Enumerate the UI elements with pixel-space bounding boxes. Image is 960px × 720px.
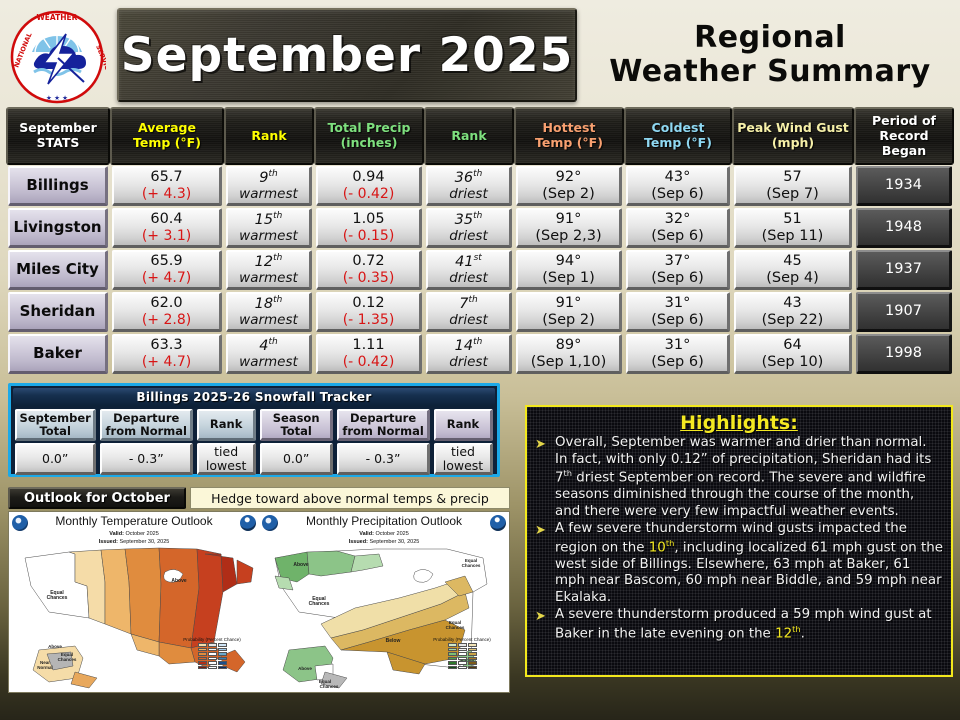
row-hottest-0: 92°(Sep 2) — [516, 166, 622, 206]
highlight-item: ➤A few severe thunderstorm wind gusts im… — [535, 521, 943, 606]
snowfall-header-5: Rank — [434, 409, 493, 441]
col-header-avg-temp-l2: Temp (°F) — [114, 136, 220, 151]
col-header-hottest: Hottest Temp (°F) — [514, 107, 624, 165]
temperature-outlook-title: Monthly Temperature Outlook — [9, 514, 259, 528]
snowfall-header-row: SeptemberTotalDeparturefrom NormalRankSe… — [13, 408, 495, 442]
row-record-began-3: 1907 — [856, 292, 952, 332]
row-record-began-0: 1934 — [856, 166, 952, 206]
row-gust-1: 51(Sep 11) — [734, 208, 852, 248]
temp-valid-value: October 2025 — [125, 531, 158, 537]
row-temp-rank-3: 18thwarmest — [226, 292, 312, 332]
row-precip-rank-3: 7thdriest — [426, 292, 512, 332]
snowfall-header-4: Departurefrom Normal — [337, 409, 430, 441]
temperature-outlook-legend: Probability (Percent Chance) — [169, 637, 255, 689]
svg-text:Chances: Chances — [47, 595, 68, 601]
col-header-temp-rank-l1: Rank — [228, 129, 310, 144]
table-row: Miles City65.9(+ 4.7)12thwarmest0.72(- 0… — [6, 249, 954, 291]
row-hottest-2: 94°(Sep 1) — [516, 250, 622, 290]
row-city-0: Billings — [8, 166, 108, 206]
row-temp-rank-0: 9thwarmest — [226, 166, 312, 206]
table-row: Billings65.7(+ 4.3)9thwarmest0.94(- 0.42… — [6, 165, 954, 207]
col-header-gust-l1: Peak Wind Gust — [736, 121, 850, 136]
col-header-hottest-l1: Hottest — [518, 121, 620, 136]
outlook-maps: Monthly Temperature Outlook Valid: Octob… — [8, 511, 510, 693]
temp-legend-title: Probability (Percent Chance) — [169, 637, 255, 642]
row-coldest-0: 43°(Sep 6) — [626, 166, 730, 206]
snowfall-value-1: - 0.3” — [100, 443, 193, 475]
row-record-began-4: 1998 — [856, 334, 952, 374]
col-header-coldest-l1: Coldest — [628, 121, 728, 136]
col-header-avg-temp-l1: Average — [114, 121, 220, 136]
highlight-item: ➤A severe thunderstorm produced a 59 mph… — [535, 607, 943, 643]
snowfall-value-3: 0.0” — [260, 443, 333, 475]
svg-text:Normal: Normal — [37, 665, 53, 670]
col-header-precip-rank-l1: Rank — [428, 129, 510, 144]
row-city-4: Baker — [8, 334, 108, 374]
svg-text:Above: Above — [171, 578, 187, 584]
table-row: Baker63.3(+ 4.7)4thwarmest1.11(- 0.42)14… — [6, 333, 954, 375]
highlight-text: Overall, September was warmer and drier … — [555, 435, 943, 520]
bullet-arrow-icon: ➤ — [535, 435, 549, 520]
row-coldest-2: 37°(Sep 6) — [626, 250, 730, 290]
row-avg-temp-2: 65.9(+ 4.7) — [112, 250, 222, 290]
snowfall-value-row: 0.0”- 0.3”tiedlowest0.0”- 0.3”tiedlowest — [13, 442, 495, 476]
row-gust-0: 57(Sep 7) — [734, 166, 852, 206]
snowfall-header-1: Departurefrom Normal — [100, 409, 193, 441]
svg-text:Chances: Chances — [309, 601, 330, 607]
precip-valid-value: October 2025 — [375, 531, 408, 537]
row-hottest-1: 91°(Sep 2,3) — [516, 208, 622, 248]
svg-text:Above: Above — [48, 644, 62, 649]
snowfall-value-5: tiedlowest — [434, 443, 493, 475]
table-row: Livingston60.4(+ 3.1)15thwarmest1.05(- 0… — [6, 207, 954, 249]
row-avg-temp-0: 65.7(+ 4.3) — [112, 166, 222, 206]
row-precip-2: 0.72(- 0.35) — [316, 250, 422, 290]
col-header-temp-rank: Rank — [224, 107, 314, 165]
month-title-banner: September 2025 — [117, 8, 577, 102]
snowfall-tracker-title: Billings 2025-26 Snowfall Tracker — [13, 388, 495, 406]
row-avg-temp-4: 63.3(+ 4.7) — [112, 334, 222, 374]
svg-text:Chances: Chances — [58, 657, 77, 662]
col-header-city: September STATS — [6, 107, 110, 165]
col-header-record-began: Period of Record Began — [854, 107, 954, 165]
stats-table-header-row: September STATS Average Temp (°F) Rank T… — [6, 107, 954, 165]
row-record-began-2: 1937 — [856, 250, 952, 290]
row-temp-rank-4: 4thwarmest — [226, 334, 312, 374]
summary-title-line2: Weather Summary — [609, 55, 930, 89]
highlight-item: ➤Overall, September was warmer and drier… — [535, 435, 943, 520]
row-gust-3: 43(Sep 22) — [734, 292, 852, 332]
outlook-hedge-note: Hedge toward above normal temps & precip — [190, 487, 510, 509]
precipitation-outlook-map: Monthly Precipitation Outlook Valid: Oct… — [259, 512, 509, 692]
col-header-city-l1: September — [10, 121, 106, 136]
highlight-text: A few severe thunderstorm wind gusts imp… — [555, 521, 943, 606]
col-header-record-began-l1: Period of — [858, 114, 950, 129]
page-header: WEATHER ★ ★ ★ NATIONAL SERVICE September… — [0, 0, 960, 106]
col-header-gust-l2: (mph) — [736, 136, 850, 151]
snowfall-tracker-panel: Billings 2025-26 Snowfall Tracker Septem… — [8, 383, 500, 477]
col-header-precip-rank: Rank — [424, 107, 514, 165]
row-precip-1: 1.05(- 0.15) — [316, 208, 422, 248]
precip-valid-label: Valid: — [359, 531, 374, 537]
snowfall-tracker-table: SeptemberTotalDeparturefrom NormalRankSe… — [13, 408, 495, 476]
svg-text:Above: Above — [293, 562, 309, 568]
row-city-1: Livingston — [8, 208, 108, 248]
precip-legend-title: Probability (Percent Chance) — [419, 637, 505, 642]
temperature-outlook-map: Monthly Temperature Outlook Valid: Octob… — [9, 512, 259, 692]
row-precip-0: 0.94(- 0.42) — [316, 166, 422, 206]
row-precip-4: 1.11(- 0.42) — [316, 334, 422, 374]
col-header-precip: Total Precip (inches) — [314, 107, 424, 165]
col-header-hottest-l2: Temp (°F) — [518, 136, 620, 151]
snowfall-value-2: tiedlowest — [197, 443, 256, 475]
svg-text:Above: Above — [298, 666, 312, 671]
row-precip-rank-2: 41stdriest — [426, 250, 512, 290]
row-temp-rank-2: 12thwarmest — [226, 250, 312, 290]
precipitation-outlook-legend: Probability (Percent Chance) — [419, 637, 505, 689]
row-hottest-4: 89°(Sep 1,10) — [516, 334, 622, 374]
svg-text:Chances: Chances — [446, 625, 465, 630]
outlook-label: Outlook for October — [8, 487, 186, 509]
row-precip-3: 0.12(- 1.35) — [316, 292, 422, 332]
temp-valid-label: Valid: — [109, 531, 124, 537]
svg-text:WEATHER: WEATHER — [37, 13, 78, 22]
row-city-3: Sheridan — [8, 292, 108, 332]
row-temp-rank-1: 15thwarmest — [226, 208, 312, 248]
row-precip-rank-0: 36thdriest — [426, 166, 512, 206]
highlight-text: A severe thunderstorm produced a 59 mph … — [555, 607, 943, 643]
snowfall-value-0: 0.0” — [15, 443, 96, 475]
svg-text:Chances: Chances — [462, 563, 481, 568]
col-header-gust: Peak Wind Gust (mph) — [732, 107, 854, 165]
highlights-panel: Highlights: ➤Overall, September was warm… — [525, 405, 953, 677]
row-city-2: Miles City — [8, 250, 108, 290]
snowfall-header-0: SeptemberTotal — [15, 409, 96, 441]
svg-text:★ ★ ★: ★ ★ ★ — [46, 94, 68, 102]
row-coldest-3: 31°(Sep 6) — [626, 292, 730, 332]
row-record-began-1: 1948 — [856, 208, 952, 248]
col-header-city-l2: STATS — [10, 136, 106, 151]
september-stats-table: September STATS Average Temp (°F) Rank T… — [6, 107, 954, 375]
col-header-coldest-l2: Temp (°F) — [628, 136, 728, 151]
row-gust-4: 64(Sep 10) — [734, 334, 852, 374]
col-header-coldest: Coldest Temp (°F) — [624, 107, 732, 165]
row-coldest-4: 31°(Sep 6) — [626, 334, 730, 374]
col-header-avg-temp: Average Temp (°F) — [110, 107, 224, 165]
nws-logo: WEATHER ★ ★ ★ NATIONAL SERVICE — [8, 8, 106, 106]
snowfall-value-4: - 0.3” — [337, 443, 430, 475]
summary-title-line1: Regional — [694, 21, 846, 55]
snowfall-header-3: SeasonTotal — [260, 409, 333, 441]
row-coldest-1: 32°(Sep 6) — [626, 208, 730, 248]
summary-title: Regional Weather Summary — [585, 6, 955, 104]
row-avg-temp-3: 62.0(+ 2.8) — [112, 292, 222, 332]
row-precip-rank-4: 14thdriest — [426, 334, 512, 374]
month-title: September 2025 — [121, 28, 574, 83]
precipitation-outlook-title: Monthly Precipitation Outlook — [259, 514, 509, 528]
row-hottest-3: 91°(Sep 2) — [516, 292, 622, 332]
svg-text:Below: Below — [386, 638, 401, 644]
bullet-arrow-icon: ➤ — [535, 521, 549, 606]
col-header-precip-l2: (inches) — [318, 136, 420, 151]
highlights-list: ➤Overall, September was warmer and drier… — [535, 435, 943, 643]
row-avg-temp-1: 60.4(+ 3.1) — [112, 208, 222, 248]
col-header-record-began-l2: Record Began — [858, 129, 950, 159]
bullet-arrow-icon: ➤ — [535, 607, 549, 643]
svg-text:Chances: Chances — [320, 684, 339, 689]
row-precip-rank-1: 35thdriest — [426, 208, 512, 248]
col-header-precip-l1: Total Precip — [318, 121, 420, 136]
row-gust-2: 45(Sep 4) — [734, 250, 852, 290]
highlights-title: Highlights: — [535, 412, 943, 434]
snowfall-header-2: Rank — [197, 409, 256, 441]
table-row: Sheridan62.0(+ 2.8)18thwarmest0.12(- 1.3… — [6, 291, 954, 333]
